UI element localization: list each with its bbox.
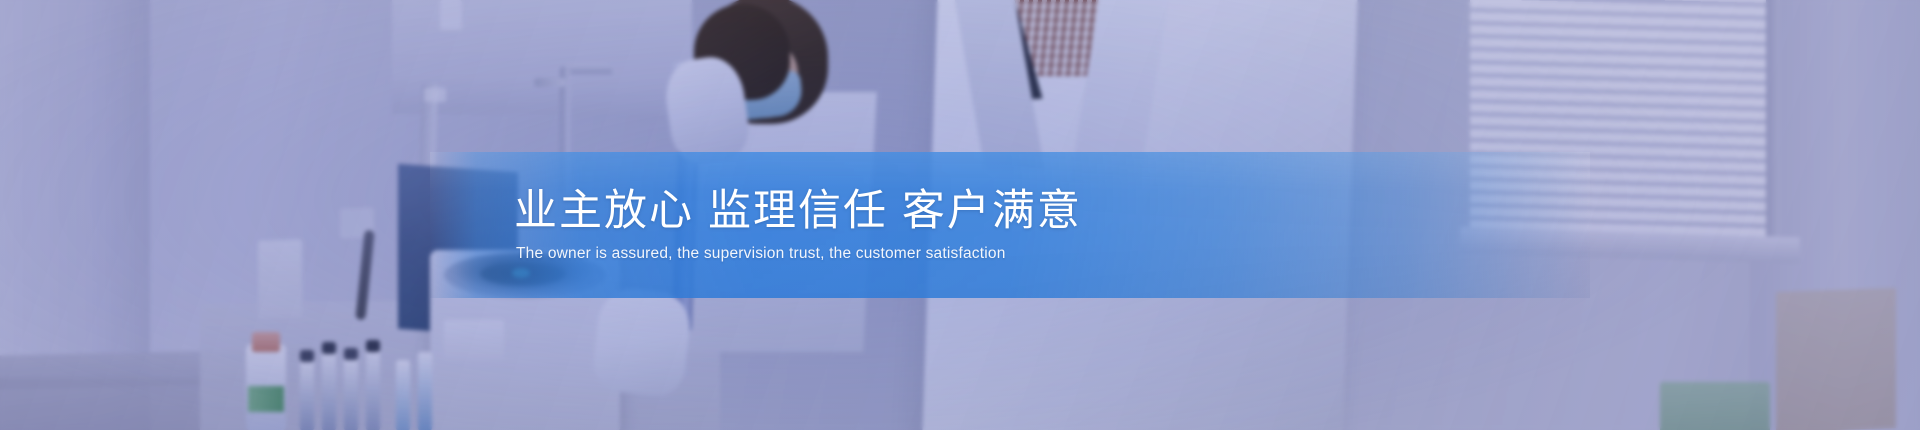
slogan-headline-chinese: 业主放心 监理信任 客户满意	[430, 186, 1082, 237]
slogan-subhead-english: The owner is assured, the supervision tr…	[430, 244, 1006, 264]
slogan-block: 业主放心 监理信任 客户满意 The owner is assured, the…	[430, 152, 1590, 298]
hero-banner: 业主放心 监理信任 客户满意 The owner is assured, the…	[0, 0, 1920, 430]
